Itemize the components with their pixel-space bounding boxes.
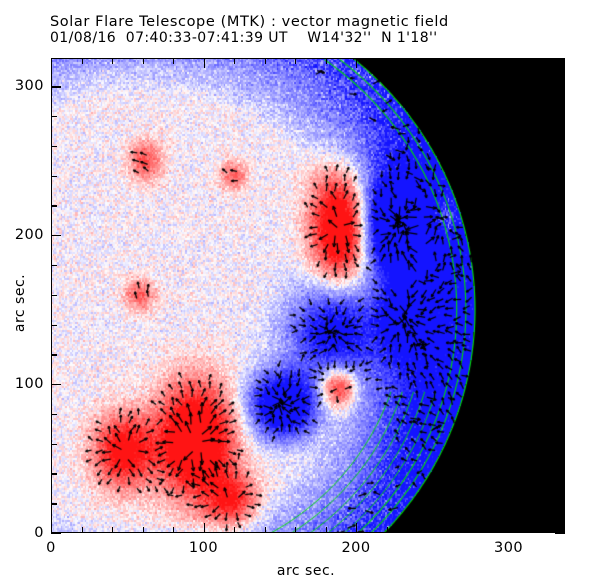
x-minor-tick-top <box>326 58 327 64</box>
x-minor-tick-top <box>539 58 540 64</box>
magnetogram-figure: Solar Flare Telescope (MTK) : vector mag… <box>0 0 612 585</box>
y-major-tick-right <box>555 384 565 385</box>
y-tick-label: 0 <box>0 525 44 541</box>
y-minor-tick <box>51 205 57 206</box>
y-major-tick <box>51 533 61 534</box>
x-major-tick <box>51 523 52 533</box>
x-minor-tick-top <box>265 58 266 64</box>
magnetogram-plot-area <box>51 58 565 533</box>
x-minor-tick <box>448 527 449 533</box>
y-minor-tick-right <box>559 265 565 266</box>
x-major-tick-top <box>356 58 357 68</box>
y-minor-tick-right <box>559 354 565 355</box>
y-minor-tick-right <box>559 414 565 415</box>
y-minor-tick <box>51 176 57 177</box>
y-minor-tick-right <box>559 295 565 296</box>
y-major-tick <box>51 384 61 385</box>
x-minor-tick <box>417 527 418 533</box>
x-minor-tick <box>82 527 83 533</box>
x-minor-tick-top <box>112 58 113 64</box>
figure-subtitle: 01/08/16 07:40:33-07:41:39 UT W14'32'' N… <box>0 30 612 46</box>
x-tick-label: 200 <box>341 540 370 556</box>
y-minor-tick-right <box>559 444 565 445</box>
x-minor-tick <box>295 527 296 533</box>
y-tick-label: 100 <box>0 376 44 392</box>
y-minor-tick-right <box>559 503 565 504</box>
x-minor-tick-top <box>143 58 144 64</box>
x-major-tick-top <box>509 58 510 68</box>
y-major-tick <box>51 235 61 236</box>
y-tick-label: 200 <box>0 227 44 243</box>
x-major-tick-top <box>204 58 205 68</box>
y-minor-tick <box>51 354 57 355</box>
x-tick-label: 0 <box>46 540 56 556</box>
y-minor-tick-right <box>559 325 565 326</box>
y-minor-tick-right <box>559 146 565 147</box>
x-minor-tick <box>387 527 388 533</box>
y-major-tick <box>51 86 61 87</box>
y-minor-tick <box>51 473 57 474</box>
x-major-tick <box>356 523 357 533</box>
x-minor-tick-top <box>448 58 449 64</box>
x-minor-tick-top <box>234 58 235 64</box>
figure-title-block: Solar Flare Telescope (MTK) : vector mag… <box>0 14 612 46</box>
x-minor-tick <box>539 527 540 533</box>
x-axis-title: arc sec. <box>0 563 612 579</box>
y-minor-tick <box>51 265 57 266</box>
x-minor-tick-top <box>417 58 418 64</box>
x-minor-tick <box>143 527 144 533</box>
x-major-tick-top <box>51 58 52 68</box>
x-tick-label: 100 <box>189 540 218 556</box>
y-tick-label: 300 <box>0 78 44 94</box>
y-minor-tick-right <box>559 205 565 206</box>
y-minor-tick <box>51 503 57 504</box>
y-minor-tick <box>51 325 57 326</box>
x-minor-tick <box>112 527 113 533</box>
x-minor-tick-top <box>387 58 388 64</box>
y-minor-tick <box>51 444 57 445</box>
y-minor-tick-right <box>559 473 565 474</box>
x-minor-tick <box>326 527 327 533</box>
y-axis-title: arc sec. <box>12 243 28 363</box>
y-minor-tick <box>51 146 57 147</box>
y-minor-tick-right <box>559 116 565 117</box>
y-minor-tick <box>51 116 57 117</box>
x-minor-tick-top <box>478 58 479 64</box>
x-minor-tick <box>234 527 235 533</box>
y-major-tick-right <box>555 533 565 534</box>
x-minor-tick <box>265 527 266 533</box>
x-minor-tick <box>478 527 479 533</box>
figure-title: Solar Flare Telescope (MTK) : vector mag… <box>0 14 612 30</box>
x-tick-label: 300 <box>494 540 523 556</box>
x-minor-tick-top <box>173 58 174 64</box>
y-minor-tick <box>51 414 57 415</box>
x-minor-tick <box>173 527 174 533</box>
x-major-tick <box>509 523 510 533</box>
y-minor-tick-right <box>559 176 565 177</box>
x-minor-tick-top <box>295 58 296 64</box>
magnetogram-image <box>51 58 565 533</box>
y-major-tick-right <box>555 235 565 236</box>
y-major-tick-right <box>555 86 565 87</box>
x-major-tick <box>204 523 205 533</box>
x-minor-tick-top <box>82 58 83 64</box>
y-minor-tick <box>51 295 57 296</box>
